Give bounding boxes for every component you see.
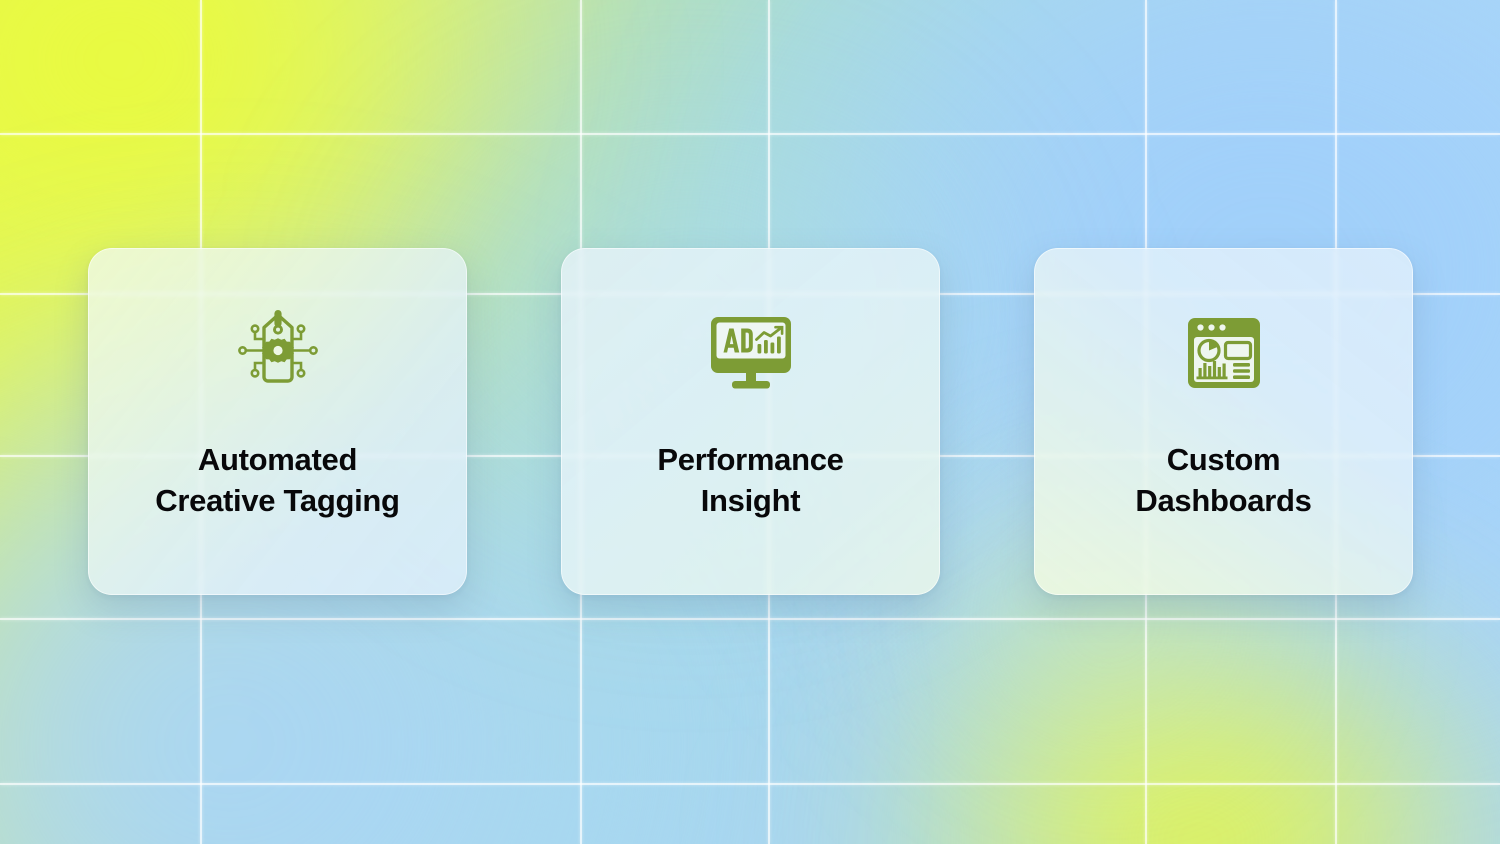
feature-card-title-line-2: Dashboards: [1135, 481, 1311, 522]
feature-cards-banner: Automated Creative Tagging: [0, 0, 1500, 844]
feature-card-title-line-1: Custom: [1135, 440, 1311, 481]
feature-card-title: Performance Insight: [657, 440, 843, 522]
feature-card-title-line-2: Insight: [657, 481, 843, 522]
monitor-ad-chart-icon: [702, 310, 800, 396]
feature-card-title-line-1: Performance: [657, 440, 843, 481]
feature-card-title: Custom Dashboards: [1135, 440, 1311, 522]
feature-card-title-line-1: Automated: [155, 440, 399, 481]
feature-card-performance-insight[interactable]: Performance Insight: [561, 248, 940, 595]
feature-card-automated-creative-tagging[interactable]: Automated Creative Tagging: [88, 248, 467, 595]
feature-card-list: Automated Creative Tagging: [88, 248, 1413, 595]
feature-card-custom-dashboards[interactable]: Custom Dashboards: [1034, 248, 1413, 595]
dashboard-window-icon: [1184, 310, 1264, 396]
tag-gear-circuit-icon: [229, 310, 327, 396]
feature-card-title: Automated Creative Tagging: [155, 440, 399, 522]
feature-card-title-line-2: Creative Tagging: [155, 481, 399, 522]
